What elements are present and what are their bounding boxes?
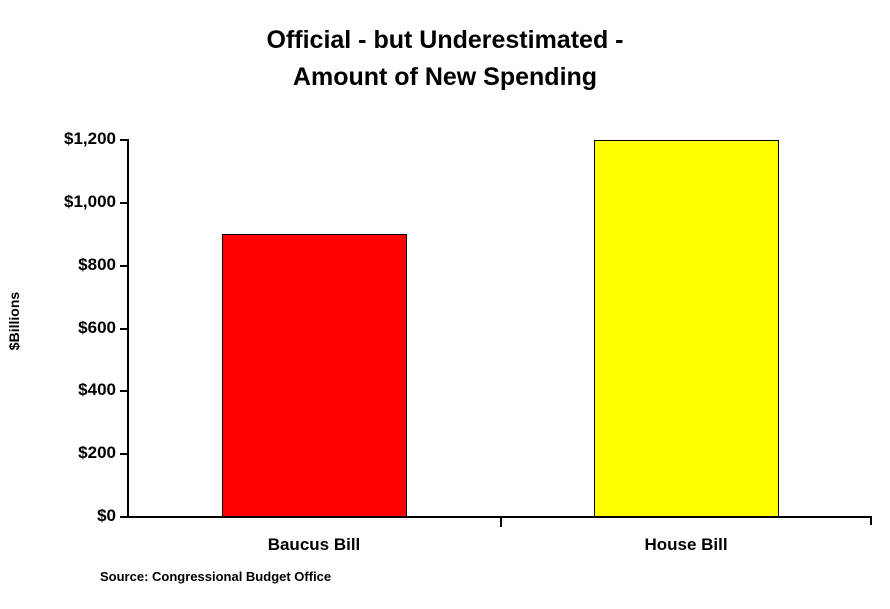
bar-baucus-bill xyxy=(222,234,407,517)
y-axis-tick-label: $600 xyxy=(16,318,116,338)
x-axis-category-label: House Bill xyxy=(536,535,836,555)
bar-chart-figure: Official - but Underestimated - Amount o… xyxy=(0,0,890,609)
y-axis-tick-labels: $0$200$400$600$800$1,000$1,200 xyxy=(8,0,116,609)
x-axis-category-label: Baucus Bill xyxy=(164,535,464,555)
y-axis-tick-label: $200 xyxy=(16,443,116,463)
y-axis-tick-label: $1,200 xyxy=(16,129,116,149)
source-note: Source: Congressional Budget Office xyxy=(100,569,331,584)
chart-title: Official - but Underestimated - Amount o… xyxy=(0,22,890,96)
bar-house-bill xyxy=(594,140,779,517)
x-axis-end-tick xyxy=(870,516,872,525)
chart-title-line-2: Amount of New Spending xyxy=(0,59,890,96)
y-axis-tick-label: $1,000 xyxy=(16,192,116,212)
chart-title-line-1: Official - but Underestimated - xyxy=(0,22,890,59)
plot-area xyxy=(128,140,872,517)
y-axis-tick-label: $400 xyxy=(16,380,116,400)
y-axis-tick-label: $800 xyxy=(16,255,116,275)
x-axis-category-separator-tick xyxy=(500,516,502,527)
y-axis-tick-label: $0 xyxy=(16,506,116,526)
